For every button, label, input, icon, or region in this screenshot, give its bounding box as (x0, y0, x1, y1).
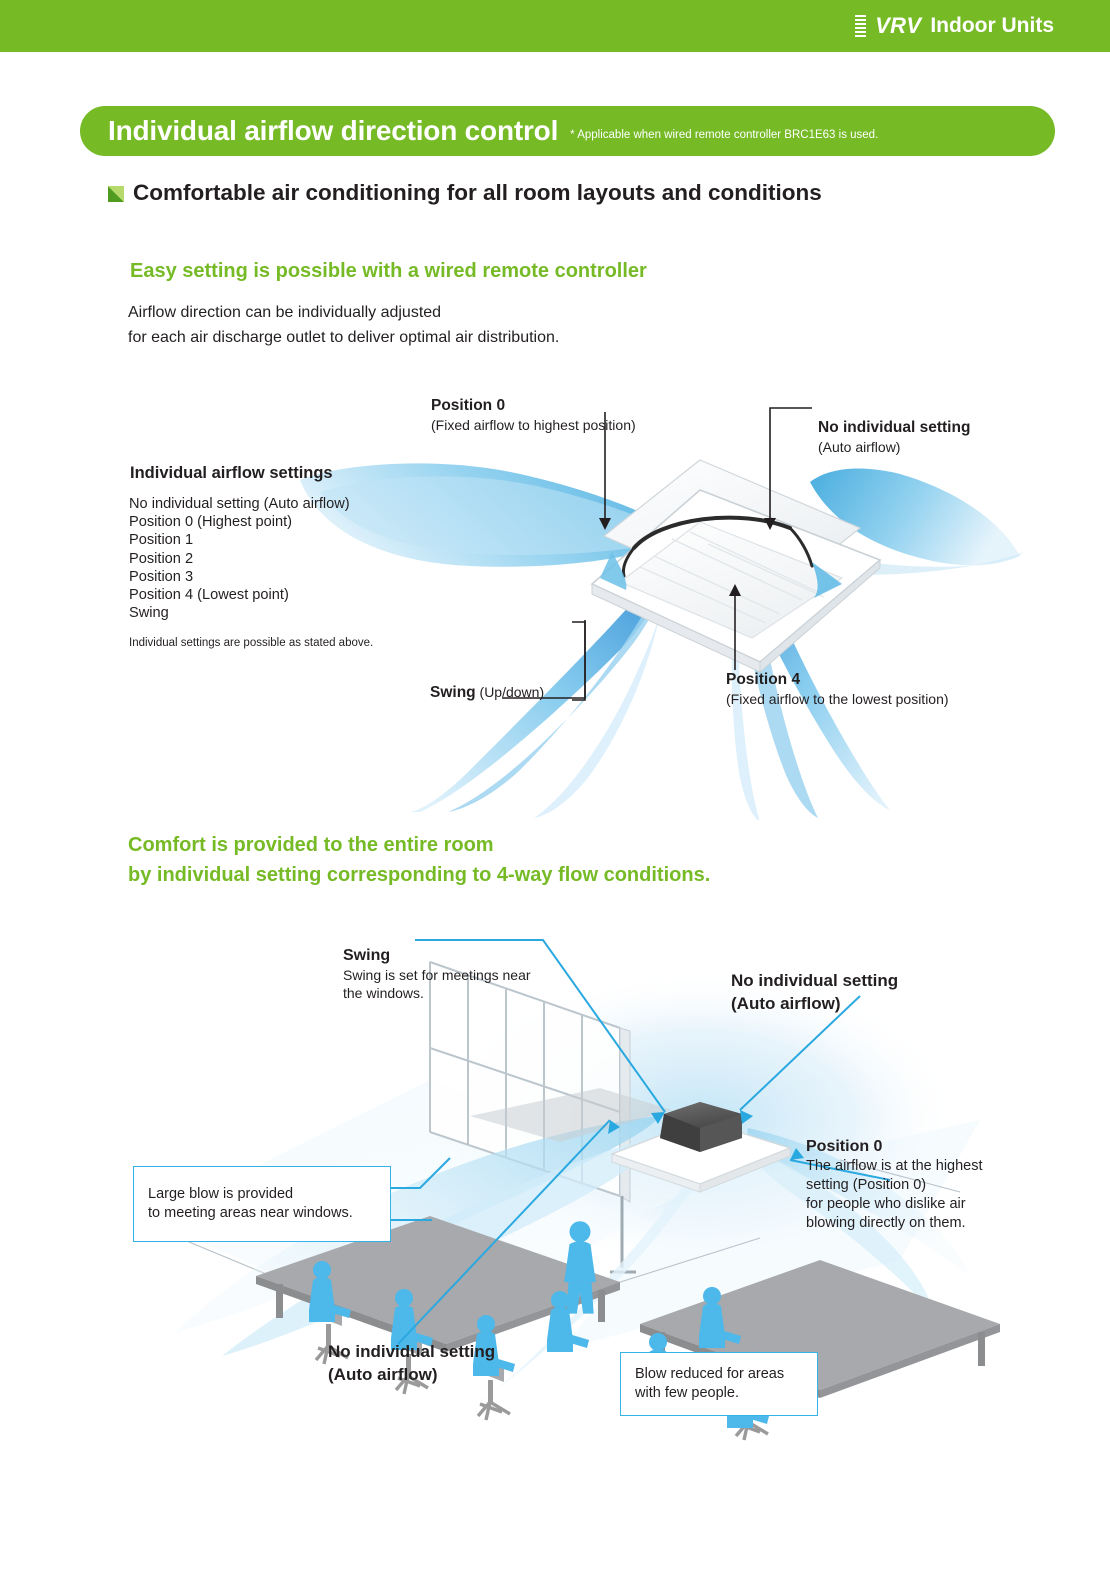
comfort-heading-line-1: Comfort is provided to the entire room (128, 830, 710, 860)
box-line-1: Large blow is provided (148, 1185, 353, 1204)
callout-no-individual-setting-top: No individual setting (Auto airflow) (731, 969, 898, 1015)
callout-line-4: blowing directly on them. (806, 1214, 983, 1233)
callout-sub: (Up/down) (476, 684, 544, 700)
page-header-band: VRV Indoor Units (0, 0, 1110, 52)
callout-box-blow-reduced: Blow reduced for areas with few people. (620, 1352, 818, 1416)
callout-line-1: No individual setting (731, 969, 898, 992)
callout-no-individual-setting: No individual setting (Auto airflow) (818, 418, 970, 457)
callout-position-0-room: Position 0 The airflow is at the highest… (806, 1137, 983, 1233)
callout-line-1: No individual setting (328, 1340, 495, 1363)
list-item: Position 3 (129, 568, 350, 586)
callout-sub-line-1: Swing is set for meetings near (343, 966, 531, 984)
header-brand-group: VRV Indoor Units (855, 13, 1110, 39)
subsection-heading-comfort: Comfort is provided to the entire room b… (128, 830, 710, 890)
page-title: Individual airflow direction control (108, 115, 558, 147)
section-heading: Comfortable air conditioning for all roo… (108, 180, 822, 206)
intro-paragraph: Airflow direction can be individually ad… (128, 300, 559, 350)
callout-title: Swing (343, 946, 531, 966)
settings-panel-note: Individual settings are possible as stat… (129, 637, 373, 649)
section-heading-text: Comfortable air conditioning for all roo… (133, 180, 822, 206)
callout-line-2: (Auto airflow) (731, 992, 898, 1015)
callout-position-4: Position 4 (Fixed airflow to the lowest … (726, 670, 949, 709)
callout-line-1: The airflow is at the highest (806, 1157, 983, 1176)
callout-line-3: for people who dislike air (806, 1195, 983, 1214)
page-title-note: * Applicable when wired remote controlle… (570, 122, 878, 141)
callout-no-individual-setting-bottom: No individual setting (Auto airflow) (328, 1340, 495, 1386)
callout-swing: Swing (Up/down) (430, 683, 544, 703)
callout-title: Position 0 (806, 1137, 983, 1157)
settings-panel-title: Individual airflow settings (130, 464, 333, 483)
vrv-brand-label: VRV (875, 13, 921, 39)
comfort-heading-line-2: by individual setting corresponding to 4… (128, 860, 710, 890)
callout-line-2: (Auto airflow) (328, 1363, 495, 1386)
callout-title: Position 4 (726, 670, 949, 690)
list-item: Position 2 (129, 550, 350, 568)
stripes-icon (855, 15, 866, 37)
callout-box-large-blow: Large blow is provided to meeting areas … (133, 1166, 391, 1242)
box-line-2: with few people. (635, 1384, 784, 1403)
callout-swing-room: Swing Swing is set for meetings near the… (343, 946, 531, 1002)
list-item: Position 0 (Highest point) (129, 513, 350, 531)
settings-panel-list: No individual setting (Auto airflow) Pos… (129, 495, 350, 622)
callout-title: No individual setting (818, 418, 970, 438)
callout-position-0: Position 0 (Fixed airflow to highest pos… (431, 396, 636, 435)
callout-sub: (Auto airflow) (818, 438, 970, 457)
box-line-2: to meeting areas near windows. (148, 1204, 353, 1223)
green-square-bullet-icon (108, 186, 124, 202)
callout-line-2: setting (Position 0) (806, 1176, 983, 1195)
intro-line-1: Airflow direction can be individually ad… (128, 300, 559, 325)
callout-sub-line-2: the windows. (343, 984, 531, 1002)
box-line-1: Blow reduced for areas (635, 1365, 784, 1384)
callout-sub: (Fixed airflow to highest position) (431, 416, 636, 435)
subsection-heading-easy-setting: Easy setting is possible with a wired re… (130, 260, 647, 283)
page-title-banner: Individual airflow direction control * A… (80, 106, 1055, 156)
list-item: No individual setting (Auto airflow) (129, 495, 350, 513)
list-item: Position 1 (129, 531, 350, 549)
list-item: Swing (129, 604, 350, 622)
callout-title: Position 0 (431, 396, 636, 416)
callout-title: Swing (430, 684, 476, 701)
list-item: Position 4 (Lowest point) (129, 586, 350, 604)
intro-line-2: for each air discharge outlet to deliver… (128, 325, 559, 350)
header-subtitle: Indoor Units (930, 14, 1054, 38)
callout-sub: (Fixed airflow to the lowest position) (726, 690, 949, 709)
